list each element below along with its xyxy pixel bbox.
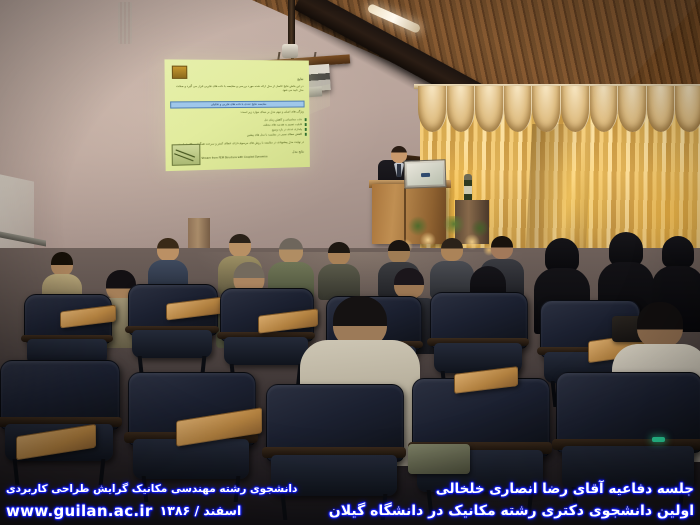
audience-head-covered	[609, 232, 643, 266]
audience-head-covered	[545, 238, 579, 272]
valance-swag	[561, 86, 590, 132]
slide-figure-thumbnail	[172, 144, 201, 166]
presenter-tie	[397, 164, 401, 177]
audience-head	[491, 236, 513, 259]
audience-head-covered	[662, 236, 694, 268]
backpack-on-floor	[408, 444, 470, 474]
chair-seat	[132, 330, 213, 357]
projector-mount-pole	[288, 0, 295, 50]
valance-swag	[532, 86, 561, 132]
audience-head	[441, 238, 463, 261]
projection-screen: نتایج در این بخش نتایج حاصل از مدل ارائه…	[164, 59, 309, 171]
lecture-chair	[556, 372, 700, 500]
curtain-valance	[418, 86, 700, 132]
valance-swag	[418, 86, 447, 132]
valance-swag	[618, 86, 647, 132]
valance-swag	[647, 86, 676, 132]
audience-head	[157, 238, 179, 261]
audience-head	[328, 242, 350, 265]
audience-head	[637, 302, 683, 348]
wind-chime-icon	[118, 2, 132, 44]
slide-paragraph: در این بخش نتایج حاصل از مدل ارائه شده م…	[171, 84, 304, 92]
valance-swag	[447, 86, 476, 132]
slide-bullet: پایداری عددی در بازه وسیع	[272, 127, 302, 132]
valance-swag	[590, 86, 619, 132]
slide-title: نتایج	[297, 77, 303, 81]
chair-seat	[133, 439, 249, 478]
valance-swag	[475, 86, 504, 132]
audience-member	[318, 242, 360, 300]
lecture-chair	[266, 384, 402, 506]
slide-footer-heading: نتایج مدل	[292, 149, 304, 153]
lecture-chair	[128, 284, 216, 364]
slide-figure-caption: Stream from FEM Structure with Coupled D…	[201, 156, 267, 161]
status-led-indicator	[652, 437, 665, 442]
audience-head	[229, 234, 251, 257]
slide-logo-icon	[172, 66, 188, 79]
slide-bullets-intro: ویژگی های اصلی و مهم مدل بر مبنای موارد …	[171, 109, 303, 114]
presentation-slide: نتایج در این بخش نتایج حاصل از مدل ارائه…	[164, 59, 309, 171]
chair-seat	[562, 446, 694, 490]
slide-highlight-bar: مقایسه نتایج عددی با داده های تجربی و تح…	[170, 101, 304, 109]
event-photograph: نتایج در این بخش نتایج حاصل از مدل ارائه…	[0, 0, 700, 525]
valance-swag	[675, 86, 700, 132]
slide-bullet: کاهش خطای نسبی در مقایسه با مدل های پیشی…	[247, 132, 302, 137]
audience-head	[279, 238, 303, 263]
lecture-chair	[412, 378, 548, 502]
audience-head	[51, 252, 73, 276]
audience-head	[394, 268, 424, 299]
presenter-laptop	[404, 159, 447, 188]
chair-seat	[271, 455, 396, 496]
slide-bullet: دقت محاسباتی و کاهش زمان حل	[264, 117, 302, 122]
valance-swag	[504, 86, 533, 132]
chair-seat	[224, 337, 309, 366]
audience-head	[388, 240, 410, 263]
audience-torso	[318, 264, 360, 300]
bottle-label	[464, 186, 472, 194]
